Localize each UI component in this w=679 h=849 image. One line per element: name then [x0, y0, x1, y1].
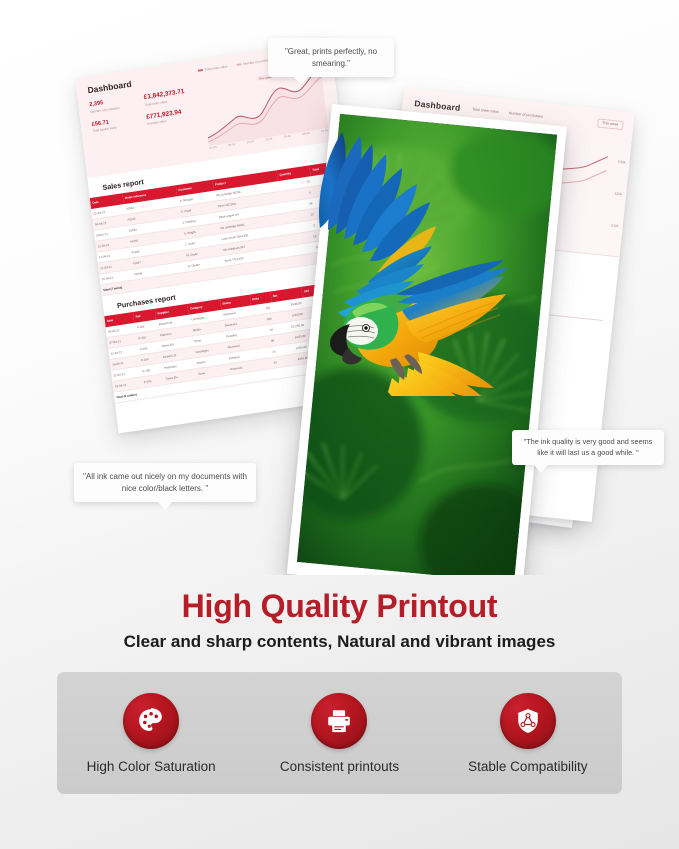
kpi-3: £771,923.94 Average value	[146, 106, 196, 126]
kpi-grid: 2,395 Number of purchases £1,842,373.71 …	[89, 87, 196, 134]
photo-image	[297, 114, 557, 575]
palette-icon	[123, 693, 179, 749]
kpi-0: 2,395 Number of purchases	[89, 95, 139, 115]
shield-network-icon	[500, 693, 556, 749]
product-feature-image: Dashboard Total order value Number of pu…	[0, 0, 679, 849]
feature-bar: High Color Saturation Consistent printou…	[57, 672, 622, 794]
right-kpi-label-0: Total order value	[472, 107, 499, 114]
testimonial-bubble-left: "All ink came out nicely on my documents…	[74, 463, 256, 502]
right-ytick-0: £30k	[618, 160, 626, 165]
right-doc-title: Dashboard	[414, 98, 461, 113]
right-kpi-label-1: Number of purchases	[509, 111, 544, 119]
right-range-selector[interactable]: This week	[597, 118, 624, 130]
kpi-1: £1,842,373.71 Total order value	[143, 87, 193, 107]
page-subtitle: Clear and sharp contents, Natural and vi…	[0, 632, 679, 652]
feature-high-color-saturation: High Color Saturation	[57, 693, 245, 774]
feature-stable-compatibility: Stable Compatibility	[434, 693, 622, 774]
page-title: High Quality Printout	[0, 588, 679, 625]
right-ytick-1: £20k	[615, 192, 623, 197]
right-ytick-2: £10k	[611, 223, 619, 228]
testimonial-bubble-top: "Great, prints perfectly, no smearing."	[268, 38, 394, 77]
hero-collage: Dashboard Total order value Number of pu…	[0, 0, 679, 575]
printer-icon	[311, 693, 367, 749]
feature-consistent-printouts: Consistent printouts	[245, 693, 433, 774]
kpi-2: £56.71 Total basket value	[91, 114, 141, 134]
testimonial-bubble-right: "The ink quality is very good and seems …	[512, 430, 664, 465]
macaw-photo-print	[287, 104, 567, 575]
feature-label: Stable Compatibility	[468, 759, 587, 774]
feature-label: High Color Saturation	[87, 759, 216, 774]
feature-label: Consistent printouts	[280, 759, 399, 774]
